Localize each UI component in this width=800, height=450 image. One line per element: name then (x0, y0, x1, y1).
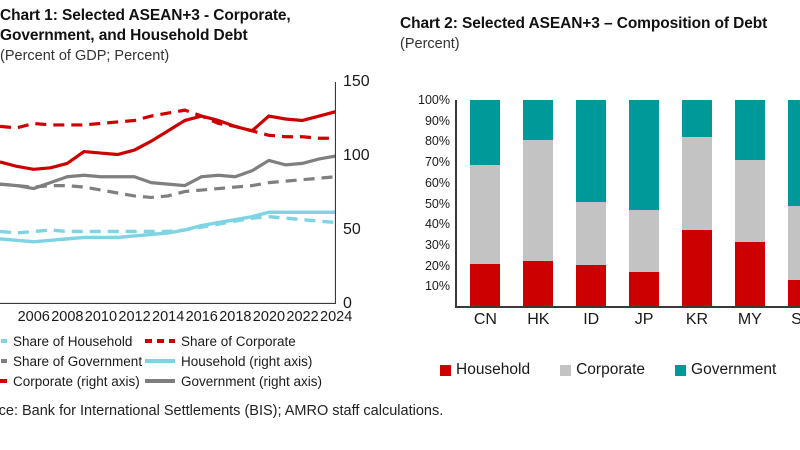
chart1-legend-row: Corporate (right axis)Government (right … (0, 371, 397, 391)
chart2-segment-household (470, 264, 500, 307)
chart2-segment-government (735, 100, 765, 160)
legend-swatch-cyan-solid (145, 359, 175, 363)
chart1-legend-label: Corporate (right axis) (13, 374, 140, 389)
chart2-x-label-kr: KR (677, 311, 717, 329)
chart2-y-tick-label: 40% (425, 218, 450, 230)
chart1-x-tick-label: 2008 (51, 309, 83, 325)
source-note: Source: Bank for International Settlemen… (0, 403, 443, 419)
chart1-x-tick-label: 2010 (85, 309, 117, 325)
chart2-segment-household (523, 261, 553, 307)
chart1-series-share-of-corporate (0, 110, 336, 138)
legend-swatch-red-solid (0, 379, 7, 383)
chart1-x-axis-ticks: 2006200820102012201420162018202020222024 (0, 309, 344, 331)
chart2-y-tick-label: 70% (425, 156, 450, 168)
legend-swatch-bar_gray (560, 365, 571, 376)
chart2-segment-household (682, 230, 712, 307)
chart2-bar-my (735, 100, 765, 307)
chart2-y-tick-label: 50% (425, 198, 450, 210)
chart1-y-tick-label: 50 (343, 222, 361, 238)
chart2-segment-corporate (735, 160, 765, 242)
chart2-segment-government (523, 100, 553, 140)
chart2-y-tick-label: 20% (425, 260, 450, 272)
legend-swatch-cyan-dashed (0, 339, 7, 343)
chart1-series-share-of-household (0, 217, 336, 233)
chart2-bar-jp (629, 100, 659, 307)
chart2-x-label-id: ID (571, 311, 611, 329)
legend-swatch-gray-solid (145, 379, 175, 383)
chart2-y-tick-label: 100% (418, 94, 450, 106)
chart1-legend-item: Share of Corporate (145, 334, 296, 349)
chart1-x-tick-label: 2024 (320, 309, 352, 325)
chart2-legend: HouseholdCorporateGovernment (440, 358, 800, 382)
chart1-legend-item: Household (right axis) (145, 354, 312, 369)
chart2-segment-corporate (470, 165, 500, 263)
chart2-x-axis-labels: CNHKIDJPKRMYSGTH (455, 311, 800, 335)
chart2-segment-corporate (682, 137, 712, 230)
chart1-series-share-of-government (0, 177, 336, 198)
chart2-segment-government (788, 100, 800, 206)
chart2-segment-government (682, 100, 712, 137)
chart1-legend-row: Share of HouseholdShare of Corporate (0, 331, 397, 351)
chart2-segment-corporate (788, 206, 800, 281)
chart1-title-line1: Chart 1: Selected ASEAN+3 - Corporate, (0, 6, 291, 26)
chart2-segment-corporate (629, 210, 659, 272)
chart2-legend-label: Government (691, 361, 776, 379)
chart2-segment-household (629, 272, 659, 307)
chart1-legend-label: Share of Household (13, 334, 132, 349)
chart1-x-tick-label: 2012 (118, 309, 150, 325)
chart2-legend-item: Corporate (560, 361, 645, 379)
chart2-panel: Chart 2: Selected ASEAN+3 – Composition … (400, 0, 800, 450)
chart2-segment-government (576, 100, 606, 202)
chart2-segment-household (735, 242, 765, 307)
chart1-x-tick-label: 2022 (286, 309, 318, 325)
chart1-right-axis-ticks: 050100150 (343, 74, 389, 314)
chart1-legend-label: Household (right axis) (181, 354, 312, 369)
chart1-series-government-right-axis (0, 156, 336, 189)
chart1-legend: Share of HouseholdShare of CorporateShar… (0, 331, 397, 393)
chart2-title-block: Chart 2: Selected ASEAN+3 – Composition … (400, 14, 767, 54)
chart2-segment-government (629, 100, 659, 210)
chart1-axis-lines (0, 82, 336, 304)
chart2-bar-kr (682, 100, 712, 307)
chart2-x-label-hk: HK (518, 311, 558, 329)
chart1-x-tick-label: 2018 (219, 309, 251, 325)
chart1-legend-row: Share of GovernmentHousehold (right axis… (0, 351, 397, 371)
legend-swatch-red (440, 365, 451, 376)
chart2-bar-hk (523, 100, 553, 307)
chart2-y-tick-label: 30% (425, 239, 450, 251)
chart1-x-tick-label: 2006 (18, 309, 50, 325)
chart2-segment-corporate (523, 140, 553, 261)
chart2-plot-area (455, 100, 800, 307)
chart2-title: Chart 2: Selected ASEAN+3 – Composition … (400, 14, 767, 34)
chart1-title-line2: Government, and Household Debt (0, 26, 291, 46)
chart2-segment-government (470, 100, 500, 165)
chart1-panel: Chart 1: Selected ASEAN+3 - Corporate, G… (0, 0, 392, 450)
chart2-x-label-jp: JP (624, 311, 664, 329)
chart1-x-tick-label: 2016 (186, 309, 218, 325)
legend-swatch-red-dashed (145, 339, 175, 343)
chart2-x-axis-line (455, 306, 800, 308)
chart1-legend-label: Share of Corporate (181, 334, 296, 349)
chart1-x-tick-label: 2020 (253, 309, 285, 325)
chart2-x-label-cn: CN (465, 311, 505, 329)
chart1-legend-item: Share of Household (0, 334, 145, 349)
chart2-bar-sg (788, 100, 800, 307)
chart1-title-block: Chart 1: Selected ASEAN+3 - Corporate, G… (0, 6, 291, 66)
chart2-legend-label: Corporate (576, 361, 645, 379)
chart2-y-tick-label: 80% (425, 135, 450, 147)
chart2-segment-corporate (576, 202, 606, 264)
chart1-x-tick-label: 2014 (152, 309, 184, 325)
chart2-segment-household (576, 265, 606, 307)
chart2-y-tick-label: 10% (425, 280, 450, 292)
chart1-legend-item: Government (right axis) (145, 374, 322, 389)
chart2-subtitle: (Percent) (400, 34, 767, 54)
chart2-y-tick-label: 60% (425, 177, 450, 189)
chart1-y-tick-label: 100 (343, 148, 370, 164)
chart1-legend-label: Government (right axis) (181, 374, 322, 389)
chart1-subtitle: (Percent of GDP; Percent) (0, 46, 291, 66)
chart1-legend-label: Share of Government (13, 354, 142, 369)
chart2-y-axis-ticks: 10%20%30%40%50%60%70%80%90%100% (404, 94, 450, 314)
figure-page: Chart 1: Selected ASEAN+3 - Corporate, G… (0, 0, 800, 450)
chart1-legend-item: Corporate (right axis) (0, 374, 145, 389)
chart2-segment-household (788, 280, 800, 307)
chart2-x-label-my: MY (730, 311, 770, 329)
chart2-x-label-sg: SG (783, 311, 800, 329)
chart1-line-svg (0, 82, 336, 304)
legend-swatch-teal (675, 365, 686, 376)
chart2-bar-id (576, 100, 606, 307)
chart2-legend-item: Government (675, 361, 776, 379)
chart1-legend-item: Share of Government (0, 354, 145, 369)
chart1-y-tick-label: 150 (343, 74, 370, 90)
chart2-legend-item: Household (440, 361, 530, 379)
chart1-series-corporate-right-axis (0, 112, 336, 170)
chart1-series-household-right-axis (0, 212, 336, 242)
chart2-legend-label: Household (456, 361, 530, 379)
chart2-y-tick-label: 90% (425, 115, 450, 127)
chart2-bar-cn (470, 100, 500, 307)
legend-swatch-gray-dashed (0, 359, 7, 363)
chart1-plot-area (0, 82, 336, 304)
